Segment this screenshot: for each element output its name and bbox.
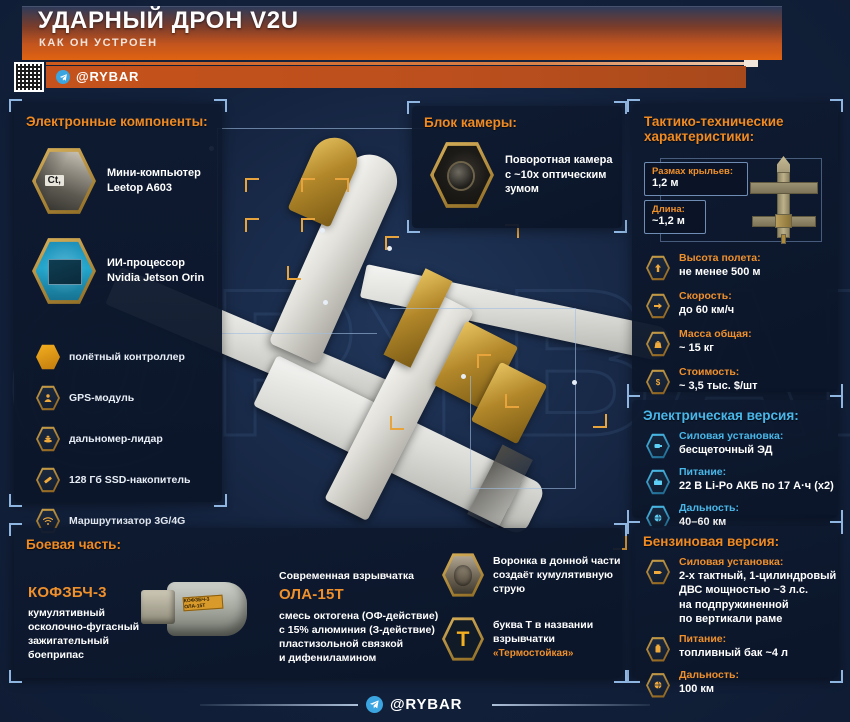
specs-title-line2: характеристики: (644, 129, 754, 145)
list-item-label: 128 Гб SSD-накопитель (69, 474, 191, 486)
spec-key: Питание: (679, 633, 788, 646)
camera-item: Поворотная камера с ~10x оптическим зумо… (430, 140, 612, 210)
panel-camera: Блок камеры: Поворотная камера с ~10x оп… (412, 106, 622, 228)
spec-value: ~ 15 кг (679, 341, 752, 355)
ssd-icon (36, 467, 60, 493)
wingspan-value: 1,2 м (652, 177, 741, 190)
list-item-label: GPS-модуль (69, 392, 134, 404)
bomb-stencil-label: КОФЗБЧ-3 ОЛА-15Т (183, 595, 224, 612)
warhead-desc-line: кумулятивный (28, 606, 139, 620)
telegram-icon (366, 696, 383, 713)
camera-title: Блок камеры: (424, 115, 517, 131)
length-key: Длина: (652, 204, 699, 215)
warhead-desc-line: осколочно-фугасный (28, 620, 139, 634)
spec-row: Масса общая: ~ 15 кг (646, 328, 761, 357)
spec-value: бесщеточный ЭД (679, 443, 783, 457)
explosive-line: и дифениламином (279, 651, 438, 665)
spec-row: Питание: 22 В Li-Po АКБ по 17 А·ч (x2) (646, 466, 834, 495)
electric-title: Электрическая версия: (643, 408, 799, 424)
lidar-icon (36, 426, 60, 452)
specs-title-line1: Тактико-технические (644, 114, 784, 130)
list-item: 128 Гб SSD-накопитель (36, 467, 191, 493)
panel-electric-version: Электрическая версия: Силовая установка:… (632, 400, 838, 518)
header-rule-cap (744, 60, 758, 67)
spec-row: Силовая установка: 2-х тактный, 1-цилинд… (646, 556, 836, 626)
spec-value: не менее 500 м (679, 265, 761, 279)
warhead-title: Боевая часть: (26, 537, 121, 553)
flight-controller-icon (36, 344, 60, 370)
svg-text:$: $ (656, 378, 661, 387)
ai-processor-photo-icon (32, 236, 96, 306)
list-item: дальномер-лидар (36, 426, 191, 452)
list-item-label: Маршрутизатор 3G/4G (69, 515, 185, 527)
battery-icon (646, 469, 670, 495)
camera-line3: зумом (505, 182, 612, 197)
spec-row: Силовая установка: бесщеточный ЭД (646, 430, 834, 459)
warhead-note: T буква Т в названии взрывчатки «Термост… (442, 616, 620, 662)
warhead-left: КОФЗБЧ-3 кумулятивный осколочно-фугасный… (28, 584, 139, 662)
spec-value: по вертикали раме (679, 612, 836, 626)
list-item: GPS-модуль (36, 385, 191, 411)
spec-value: 22 В Li-Po АКБ по 17 А·ч (x2) (679, 479, 834, 493)
explosive-line: пластизольной связкой (279, 637, 438, 651)
footer-rule-left (200, 704, 358, 706)
altitude-arrow-icon (646, 255, 670, 281)
dollar-icon: $ (646, 369, 670, 395)
spec-value: ДВС мощностью ~3 л.с. (679, 583, 836, 597)
spec-key: Высота полета: (679, 252, 761, 265)
panel-gasoline-version: Бензиновая версия: Силовая установка: 2-… (632, 526, 838, 678)
brand-handle: @RYBAR (76, 69, 139, 84)
explosive-lead: Современная взрывчатка (279, 570, 438, 584)
warhead-note: Воронка в донной части создаёт кумулятив… (442, 552, 620, 598)
list-item: полётный контроллер (36, 344, 191, 370)
spec-value: топливный бак ~4 л (679, 646, 788, 660)
mini-computer-line1: Мини-компьютер (107, 166, 201, 181)
note-line: струю (493, 582, 620, 596)
electric-list: Силовая установка: бесщеточный ЭД Питани… (646, 430, 834, 531)
list-item-label: полётный контроллер (69, 351, 185, 363)
electronics-title: Электронные компоненты: (26, 114, 208, 130)
explosive-line: смесь октогена (ОФ-действие) (279, 609, 438, 623)
motor-icon (646, 433, 670, 459)
spec-value: 2-х тактный, 1-цилиндровый (679, 569, 836, 583)
spec-key: Силовая установка: (679, 430, 783, 443)
spec-row: Скорость: до 60 км/ч (646, 290, 761, 319)
camera-line1: Поворотная камера (505, 153, 612, 168)
gasoline-title: Бензиновая версия: (643, 534, 779, 550)
engine-icon (646, 559, 670, 585)
spec-row: Питание: топливный бак ~4 л (646, 633, 836, 662)
mini-computer-photo-icon (32, 146, 96, 216)
spec-row: $ Стоимость: ~ 3,5 тыс. $/шт (646, 366, 761, 395)
spec-key: Скорость: (679, 290, 734, 303)
speed-arrow-icon (646, 293, 670, 319)
note-highlight: «Термостойкая» (493, 648, 593, 659)
warhead-desc-line: зажигательный (28, 634, 139, 648)
brand-strip (46, 66, 746, 88)
telegram-icon (56, 70, 70, 84)
note-line: создаёт кумулятивную (493, 568, 620, 582)
gps-icon (36, 385, 60, 411)
weight-icon (646, 331, 670, 357)
warhead-notes: Воронка в донной части создаёт кумулятив… (442, 552, 620, 662)
note-line: буква Т в названии (493, 618, 593, 632)
panel-specs: Тактико-технические характеристики: Разм… (632, 104, 838, 392)
electronics-list: полётный контроллер GPS-модуль дальномер… (36, 344, 191, 534)
dimension-length: Длина: ~1,2 м (644, 200, 706, 234)
dimension-wingspan: Размах крыльев: 1,2 м (644, 162, 748, 196)
spec-key: Питание: (679, 466, 834, 479)
header-rule (46, 62, 746, 65)
electronics-featured-item: Мини-компьютер Leetop A603 (32, 146, 201, 216)
note-line: Воронка в донной части (493, 554, 620, 568)
warhead-explosive: Современная взрывчатка ОЛА-15Т смесь окт… (279, 570, 438, 665)
spec-row: Высота полета: не менее 500 м (646, 252, 761, 281)
infographic-root: @RYBAR (0, 0, 850, 722)
spec-key: Дальность: (679, 669, 739, 682)
spec-value: ~ 3,5 тыс. $/шт (679, 379, 758, 393)
page-title: УДАРНЫЙ ДРОН V2U (38, 7, 299, 35)
camera-line2: с ~10x оптическим (505, 168, 612, 183)
ai-processor-line2: Nvidia Jetson Orin (107, 271, 204, 286)
spec-key: Дальность: (679, 502, 739, 515)
footer-brand: @RYBAR (390, 696, 462, 713)
qr-code-icon (14, 62, 44, 92)
shaped-charge-cone-icon (442, 552, 484, 598)
panel-warhead: Боевая часть: КОФЗБЧ-3 кумулятивный оско… (14, 528, 622, 678)
footer: @RYBAR (0, 688, 850, 722)
explosive-line: с 15% алюминия (З-действие) (279, 623, 438, 637)
note-line: взрывчатки (493, 632, 593, 646)
warhead-name: КОФЗБЧ-3 (28, 584, 139, 601)
spec-key: Масса общая: (679, 328, 752, 341)
footer-rule-right (492, 704, 650, 706)
fuel-tank-icon (646, 636, 670, 662)
drone-plan-view (742, 156, 826, 244)
ai-processor-line1: ИИ-процессор (107, 256, 204, 271)
spec-value: на подпружиненной (679, 598, 836, 612)
page-subtitle: КАК ОН УСТРОЕН (39, 37, 158, 49)
wingspan-key: Размах крыльев: (652, 166, 741, 177)
spec-key: Силовая установка: (679, 556, 836, 569)
spec-key: Стоимость: (679, 366, 758, 379)
panel-electronics: Электронные компоненты: Мини-компьютер L… (14, 104, 222, 502)
warhead-photo: КОФЗБЧ-3 ОЛА-15Т (139, 578, 251, 640)
mini-computer-line2: Leetop A603 (107, 181, 201, 196)
electronics-featured-item: ИИ-процессор Nvidia Jetson Orin (32, 236, 204, 306)
letter-t-icon: T (442, 616, 484, 662)
warhead-desc-line: боеприпас (28, 648, 139, 662)
length-value: ~1,2 м (652, 215, 699, 228)
list-item-label: дальномер-лидар (69, 433, 163, 445)
spec-value: до 60 км/ч (679, 303, 734, 317)
camera-gimbal-photo-icon (430, 140, 494, 210)
explosive-name: ОЛА-15Т (279, 586, 438, 603)
specs-list: Высота полета: не менее 500 м Скорость: … (646, 252, 761, 395)
gasoline-list: Силовая установка: 2-х тактный, 1-цилинд… (646, 556, 836, 698)
